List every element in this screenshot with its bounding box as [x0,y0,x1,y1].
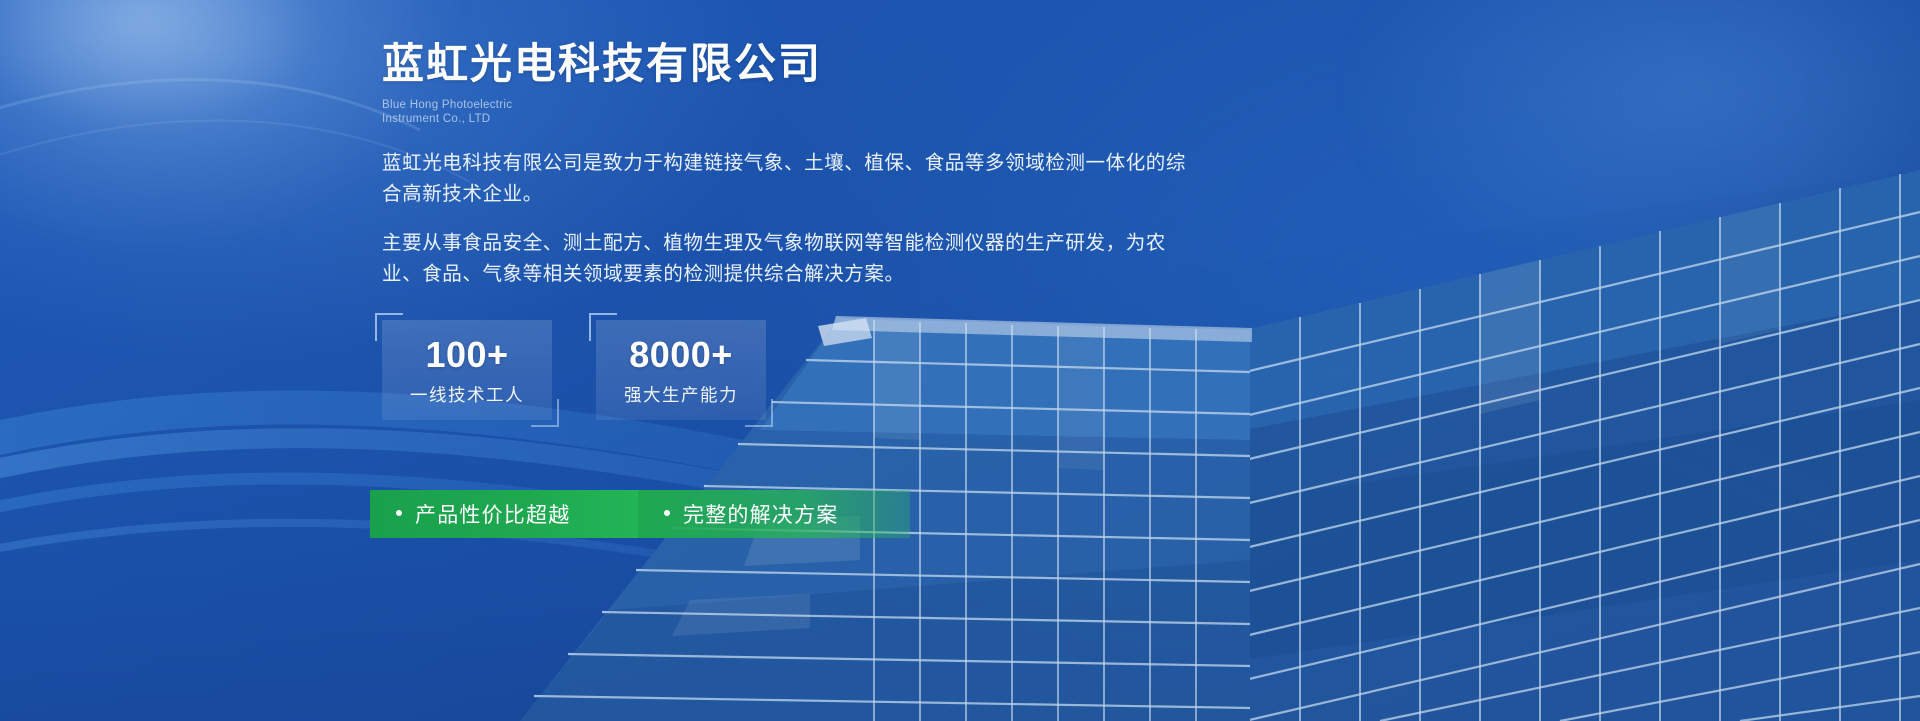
stat-number: 8000+ [629,337,733,373]
intro-paragraph-1: 蓝虹光电科技有限公司是致力于构建链接气象、土壤、植保、食品等多领域检测一体化的综… [382,148,1192,210]
subtitle-line-2: Instrument Co., LTD [382,112,1562,126]
intro-paragraph-2: 主要从事食品安全、测土配方、植物生理及气象物联网等智能检测仪器的生产研发，为农业… [382,228,1192,290]
feature-tag-label: 完整的解决方案 [683,499,838,529]
page-title: 蓝虹光电科技有限公司 [382,40,1562,88]
cloud-highlight [0,0,320,130]
stat-label: 强大生产能力 [624,387,738,405]
bullet-dot-icon [664,510,670,516]
company-subtitle-english: Blue Hong Photoelectric Instrument Co., … [382,98,1562,126]
hero-banner: 蓝虹光电科技有限公司 Blue Hong Photoelectric Instr… [0,0,1920,721]
feature-tag-label: 产品性价比超越 [415,499,570,529]
stat-number: 100+ [425,337,508,373]
stat-card: 8000+ 强大生产能力 [596,320,766,420]
feature-tag-price-advantage[interactable]: 产品性价比超越 [370,490,638,538]
stat-card: 100+ 一线技术工人 [382,320,552,420]
stat-label: 一线技术工人 [410,387,524,405]
stats-group: 100+ 一线技术工人 8000+ 强大生产能力 [382,320,1562,420]
feature-tags-group: 产品性价比超越 完整的解决方案 [370,490,910,538]
banner-content: 蓝虹光电科技有限公司 Blue Hong Photoelectric Instr… [382,0,1562,420]
subtitle-line-1: Blue Hong Photoelectric [382,98,1562,112]
feature-tag-complete-solution[interactable]: 完整的解决方案 [638,490,910,538]
bullet-dot-icon [396,510,402,516]
